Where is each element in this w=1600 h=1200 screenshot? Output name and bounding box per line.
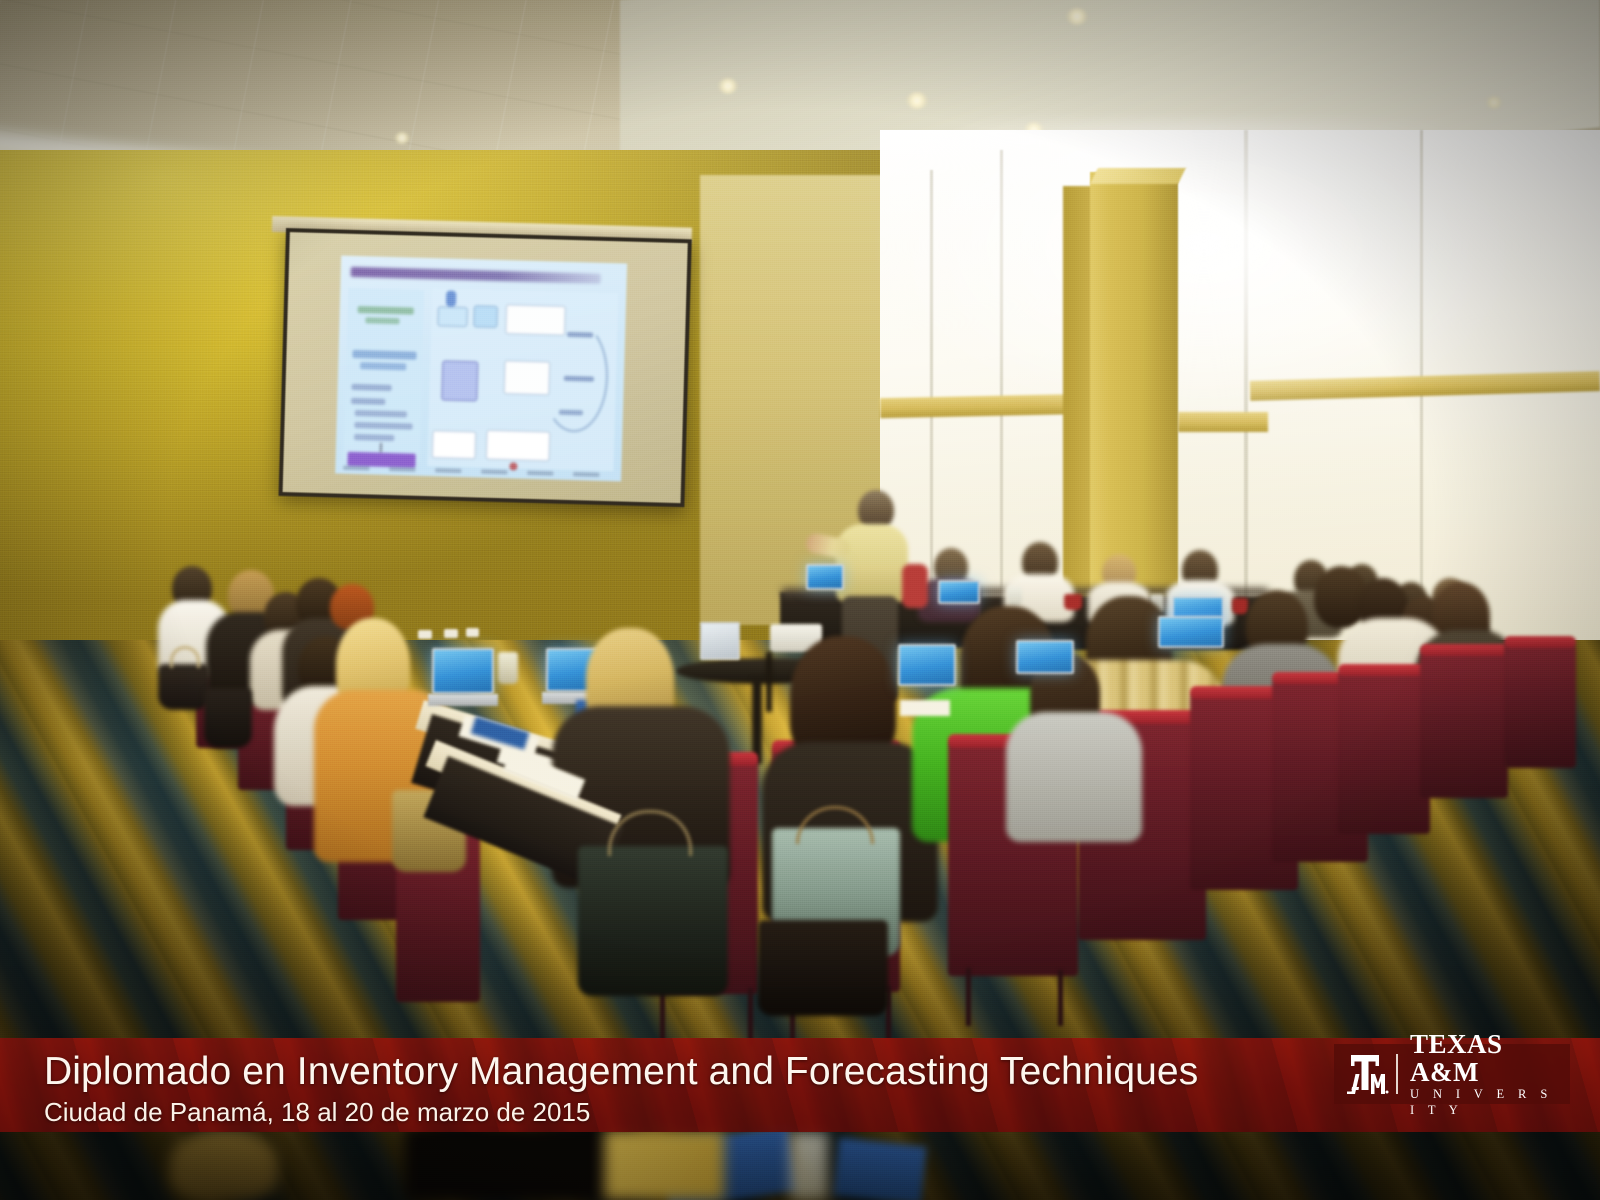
laptop-screen bbox=[806, 564, 844, 590]
chair-leg bbox=[1058, 970, 1063, 1026]
slide-text-block bbox=[358, 306, 414, 315]
laptop-screen bbox=[938, 580, 980, 604]
wall-outlet bbox=[418, 630, 432, 639]
slide-title-bar bbox=[351, 267, 601, 284]
red-cup bbox=[1064, 594, 1082, 610]
laptop-screen-side-table bbox=[700, 622, 740, 660]
wall-outlet bbox=[466, 628, 479, 637]
column-cap bbox=[1090, 168, 1186, 184]
foreground-yellow-wedge bbox=[604, 1130, 724, 1200]
projector-cable bbox=[766, 652, 772, 712]
red-cup bbox=[1232, 598, 1248, 614]
chair bbox=[1504, 640, 1576, 768]
slide-left-panel bbox=[344, 288, 425, 462]
slide-text-block bbox=[355, 410, 407, 417]
logo-divider bbox=[1396, 1054, 1398, 1094]
slide-node bbox=[437, 306, 468, 327]
chair bbox=[1338, 668, 1430, 834]
slide-connector bbox=[380, 443, 382, 453]
drinking-glass bbox=[1008, 586, 1022, 606]
laptop-screen bbox=[1158, 616, 1224, 648]
chair-leg bbox=[966, 968, 971, 1026]
bag-on-floor bbox=[758, 920, 888, 1016]
handbag bbox=[158, 664, 210, 710]
texas-am-logo: TEXAS A&M U N I V E R S I T Y bbox=[1334, 1044, 1570, 1104]
presenter-torso bbox=[836, 524, 908, 602]
ceiling-downlight bbox=[906, 92, 928, 109]
drinking-glass bbox=[498, 652, 518, 684]
slide-node bbox=[473, 305, 498, 328]
ceiling-downlight bbox=[1486, 96, 1502, 109]
chair bbox=[1420, 648, 1508, 798]
slide-diagram-area bbox=[427, 288, 618, 471]
slide-accent bbox=[509, 462, 517, 470]
photo-canvas: Diplomado en Inventory Management and Fo… bbox=[0, 0, 1600, 1200]
projected-slide bbox=[335, 256, 627, 482]
ceiling-downlight bbox=[394, 132, 410, 144]
tote-bag bbox=[578, 846, 728, 996]
slide-text-block bbox=[352, 350, 416, 360]
handbag bbox=[204, 688, 252, 748]
slide-text-block bbox=[365, 317, 399, 324]
wall-outlet bbox=[444, 629, 458, 638]
slide-text-block bbox=[354, 434, 394, 441]
foreground-head bbox=[170, 1128, 278, 1200]
round-table-leg bbox=[752, 678, 762, 764]
chair-top-rail bbox=[1420, 644, 1508, 656]
slide-text-block bbox=[351, 398, 385, 405]
slide-node bbox=[441, 360, 478, 401]
handbag-handle bbox=[170, 646, 200, 668]
laptop-screen bbox=[432, 648, 494, 694]
atm-block-mark-icon bbox=[1340, 1052, 1390, 1096]
logo-wordmark: TEXAS A&M U N I V E R S I T Y bbox=[1410, 1030, 1564, 1118]
foreground-bottle bbox=[790, 1132, 828, 1200]
slide-text-block bbox=[352, 384, 392, 391]
logo-secondary-text: U N I V E R S I T Y bbox=[1410, 1086, 1564, 1118]
foreground-blue-folder bbox=[833, 1138, 927, 1200]
logo-primary-text: TEXAS A&M bbox=[1410, 1030, 1564, 1086]
ceiling-downlight bbox=[1066, 8, 1088, 25]
slide-node bbox=[432, 430, 477, 459]
slide-node bbox=[486, 430, 551, 462]
laptop-screen bbox=[898, 644, 956, 686]
participant-accent bbox=[902, 564, 928, 608]
slide-text-block bbox=[360, 362, 406, 370]
chair-top-rail bbox=[1338, 664, 1430, 676]
window-daylight-glow bbox=[880, 120, 1600, 540]
chair-top-rail bbox=[1504, 636, 1576, 648]
paper-stack bbox=[900, 700, 950, 716]
projection-screen bbox=[279, 228, 692, 507]
screen-surface bbox=[283, 232, 688, 503]
foreground-dark-object bbox=[404, 1126, 634, 1200]
laptop-keyboard bbox=[428, 694, 498, 706]
ceiling-downlight bbox=[718, 78, 738, 94]
slide-flow-arrow bbox=[540, 321, 609, 433]
participant-torso bbox=[1006, 712, 1142, 842]
slide-text-block bbox=[354, 422, 412, 430]
conference-room-scene bbox=[0, 0, 1600, 1200]
slide-icon bbox=[446, 291, 456, 307]
laptop-screen bbox=[1016, 640, 1074, 674]
